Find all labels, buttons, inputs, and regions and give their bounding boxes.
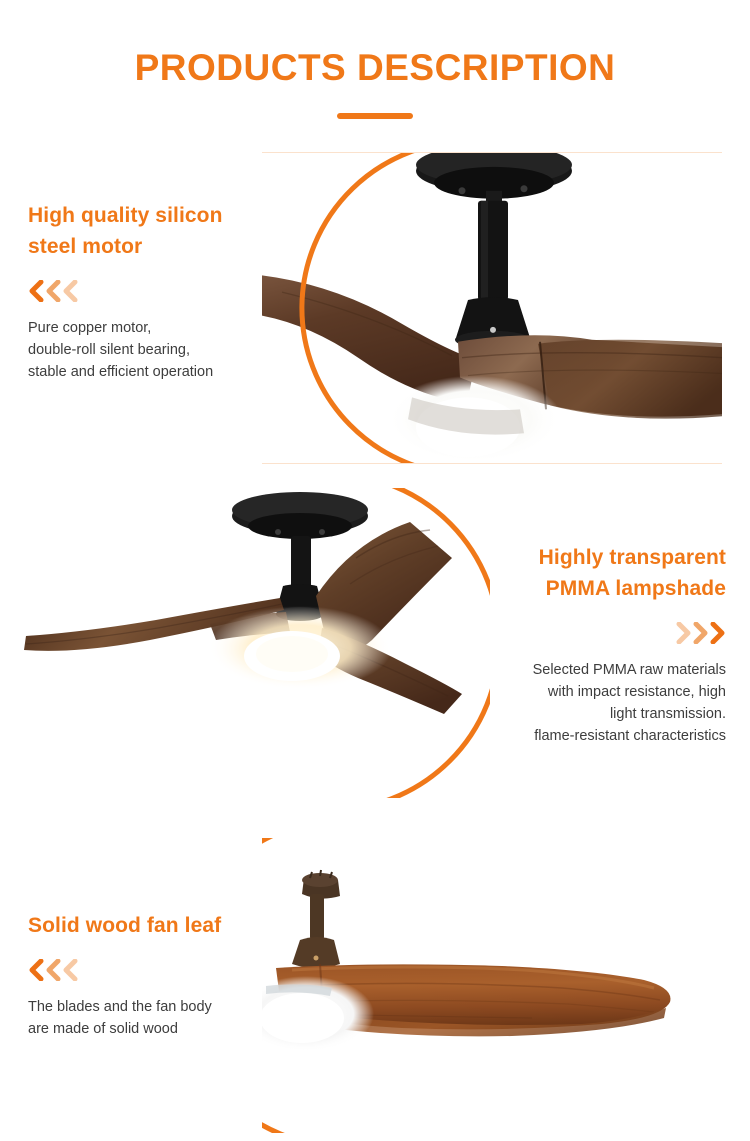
feature-body-text: Pure copper motor, double-roll silent be… [28, 317, 278, 383]
chevron-left-group [28, 280, 278, 302]
feature-section-pmma-lampshade: Highly transparent PMMA lampshade Select… [0, 480, 750, 810]
photo-artwork [262, 838, 750, 1133]
feature-text-block-lampshade: Highly transparent PMMA lampshade Select… [466, 542, 726, 747]
page-header: PRODUCTS DESCRIPTION [0, 46, 750, 119]
body-line-3: light transmission. [466, 703, 726, 725]
chevron-right-icon [670, 622, 726, 644]
feature-body-text: Selected PMMA raw materials with impact … [466, 659, 726, 747]
feature-title-line-1: Highly transparent [539, 546, 726, 569]
feature-title-line-1: High quality silicon [28, 204, 223, 227]
feature-section-solid-wood-fan-leaf: Solid wood fan leaf The blades and the f… [0, 830, 750, 1141]
feature-title: Highly transparent PMMA lampshade [466, 542, 726, 604]
title-underline-bar [337, 113, 413, 119]
product-photo-motor-closeup [262, 152, 722, 464]
body-line-4: flame-resistant characteristics [466, 725, 726, 747]
body-line-1: Selected PMMA raw materials [466, 659, 726, 681]
product-photo-three-blades [0, 488, 490, 798]
feature-text-block-fan-leaf: Solid wood fan leaf The blades and the f… [28, 910, 288, 1040]
body-line-3: stable and efficient operation [28, 361, 278, 383]
feature-title: Solid wood fan leaf [28, 910, 288, 941]
feature-body-text: The blades and the fan body are made of … [28, 996, 288, 1040]
feature-title-line-2: steel motor [28, 235, 142, 258]
body-line-2: with impact resistance, high [466, 681, 726, 703]
body-line-2: double-roll silent bearing, [28, 339, 278, 361]
chevron-left-icon [28, 280, 84, 302]
photo-artwork [262, 153, 722, 463]
body-line-2: are made of solid wood [28, 1018, 288, 1040]
chevron-left-icon [28, 959, 84, 981]
page-title: PRODUCTS DESCRIPTION [0, 46, 750, 90]
chevron-right-group [466, 622, 726, 644]
feature-title: High quality silicon steel motor [28, 200, 278, 262]
chevron-left-group [28, 959, 288, 981]
product-description-page: PRODUCTS DESCRIPTION [0, 0, 750, 1141]
product-photo-wood-blade [262, 838, 750, 1133]
feature-title-line-2: PMMA lampshade [546, 577, 726, 600]
body-line-1: Pure copper motor, [28, 317, 278, 339]
body-line-1: The blades and the fan body [28, 996, 288, 1018]
feature-title-line-1: Solid wood fan leaf [28, 914, 221, 937]
feature-section-silicon-steel-motor: High quality silicon steel motor Pure co… [0, 140, 750, 460]
feature-text-block-motor: High quality silicon steel motor Pure co… [28, 200, 278, 383]
photo-artwork [0, 488, 490, 798]
